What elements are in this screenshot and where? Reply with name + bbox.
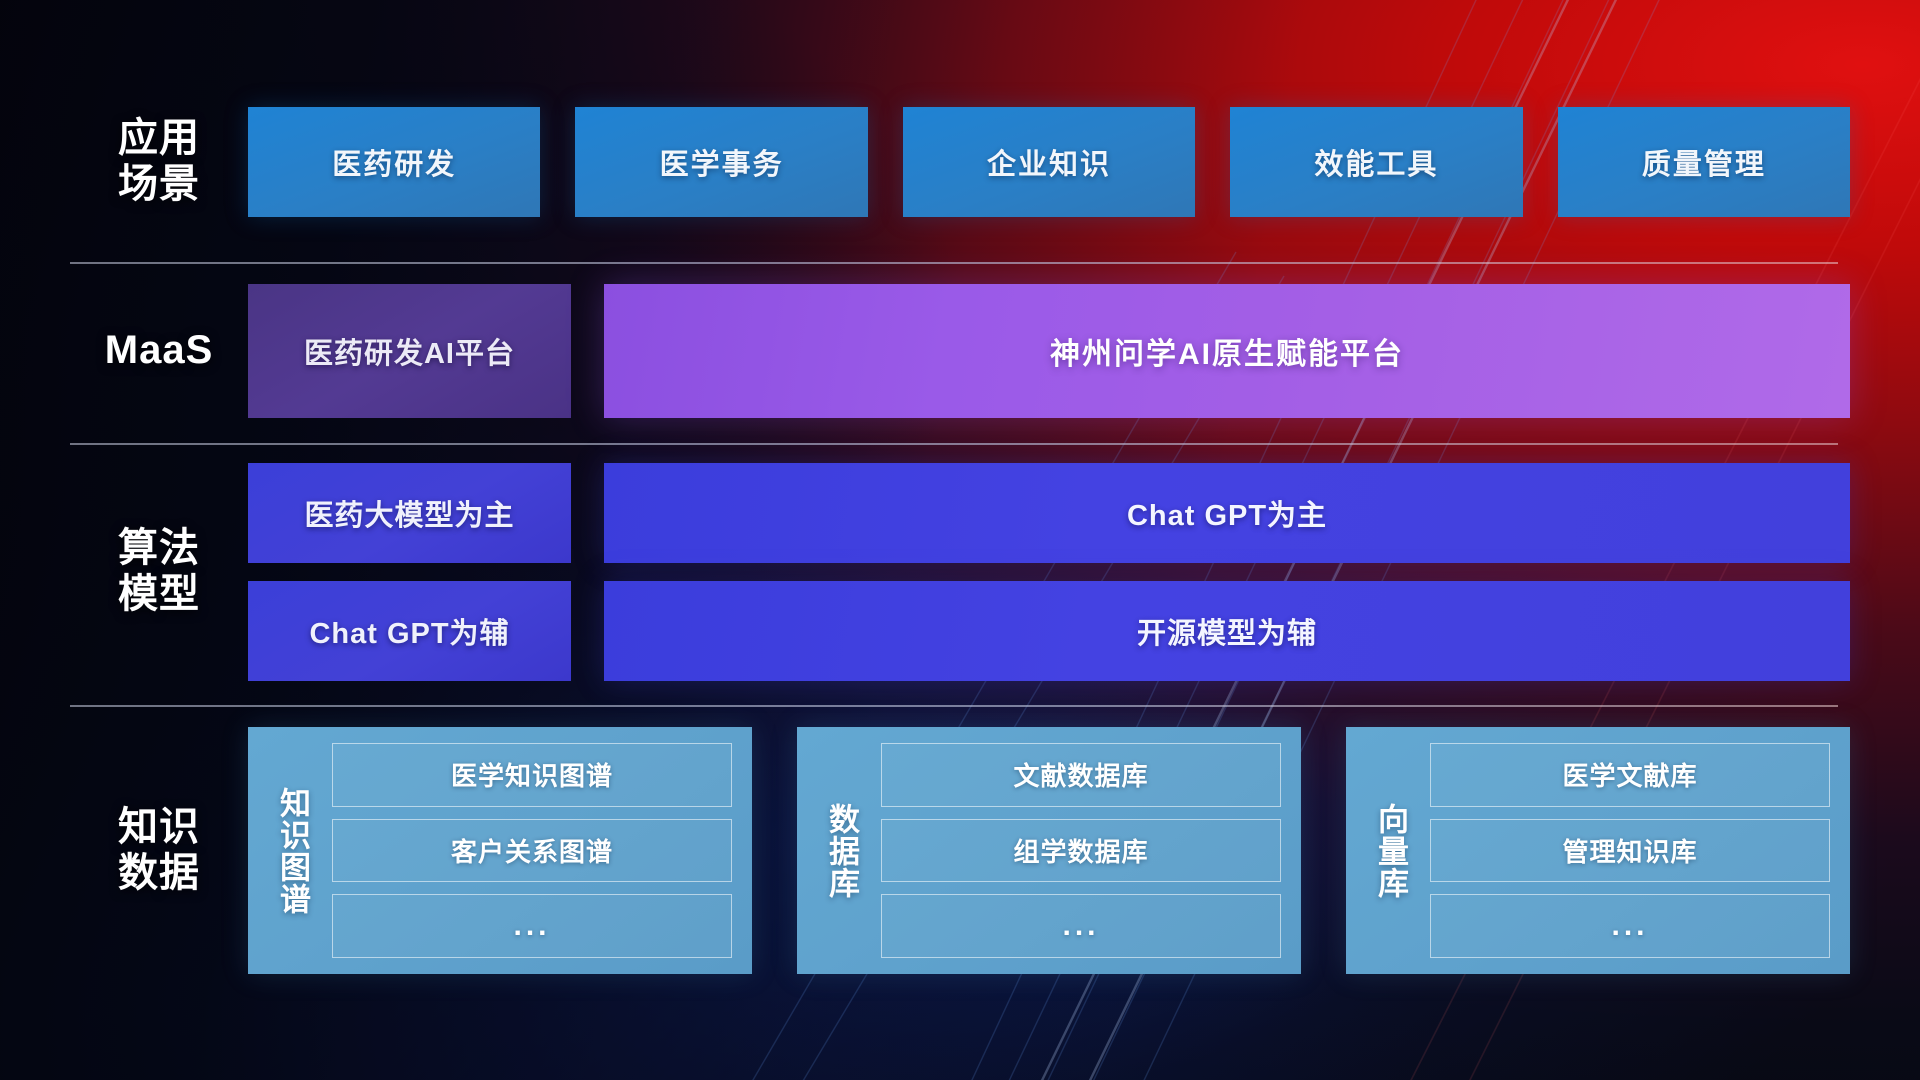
- knowledge-card-title-database: 数据库: [815, 743, 867, 958]
- algorithm-row-primary: 医药大模型为主 Chat GPT为主: [248, 463, 1850, 563]
- application-card-grid: 医药研发 医学事务 企业知识 效能工具 质量管理: [248, 107, 1850, 217]
- row-algorithms: 算法 模型 医药大模型为主 Chat GPT为主 Chat GPT为辅 开源模型…: [70, 463, 1850, 681]
- maas-card-shenzhou-wenxue-platform[interactable]: 神州问学AI原生赋能平台: [604, 284, 1850, 418]
- knowledge-item-customer-relation-graph[interactable]: 客户关系图谱: [332, 819, 732, 883]
- knowledge-content: 知识图谱 医学知识图谱 客户关系图谱 ... 数据库 文献数据库 组学数据库 .…: [248, 727, 1850, 974]
- knowledge-item-list-vector-store: 医学文献库 管理知识库 ...: [1430, 743, 1830, 958]
- knowledge-card-title-vector-store: 向量库: [1364, 743, 1416, 958]
- knowledge-item-list-knowledge-graph: 医学知识图谱 客户关系图谱 ...: [332, 743, 732, 958]
- knowledge-item-omics-database[interactable]: 组学数据库: [881, 819, 1281, 883]
- knowledge-item-more-knowledge-graph[interactable]: ...: [332, 894, 732, 958]
- knowledge-card-vector-store[interactable]: 向量库 医学文献库 管理知识库 ...: [1346, 727, 1850, 974]
- algorithms-content: 医药大模型为主 Chat GPT为主 Chat GPT为辅 开源模型为辅: [248, 463, 1850, 681]
- diagram-rows: 应用 场景 医药研发 医学事务 企业知识 效能工具 质量管理 MaaS 医药研发…: [0, 0, 1920, 1080]
- algorithm-row-secondary: Chat GPT为辅 开源模型为辅: [248, 581, 1850, 681]
- knowledge-item-management-knowledge-store[interactable]: 管理知识库: [1430, 819, 1830, 883]
- knowledge-item-more-database[interactable]: ...: [881, 894, 1281, 958]
- applications-content: 医药研发 医学事务 企业知识 效能工具 质量管理: [248, 107, 1850, 217]
- knowledge-item-list-database: 文献数据库 组学数据库 ...: [881, 743, 1281, 958]
- divider-maas-algorithms: [70, 443, 1838, 445]
- algo-card-chatgpt-primary[interactable]: Chat GPT为主: [604, 463, 1850, 563]
- app-card-drug-rd[interactable]: 医药研发: [248, 107, 540, 217]
- maas-card-grid: 医药研发AI平台 神州问学AI原生赋能平台: [248, 284, 1850, 418]
- knowledge-card-title-knowledge-graph: 知识图谱: [266, 743, 318, 958]
- app-card-efficiency-tools[interactable]: 效能工具: [1230, 107, 1522, 217]
- row-label-algorithms: 算法 模型: [70, 526, 248, 617]
- row-applications: 应用 场景 医药研发 医学事务 企业知识 效能工具 质量管理: [70, 98, 1850, 226]
- app-card-quality-management[interactable]: 质量管理: [1558, 107, 1850, 217]
- divider-algorithms-knowledge: [70, 705, 1838, 707]
- knowledge-card-grid: 知识图谱 医学知识图谱 客户关系图谱 ... 数据库 文献数据库 组学数据库 .…: [248, 727, 1850, 974]
- row-label-maas: MaaS: [70, 328, 248, 374]
- row-label-knowledge: 知识 数据: [70, 805, 248, 896]
- algo-card-chatgpt-secondary[interactable]: Chat GPT为辅: [248, 581, 571, 681]
- row-label-applications: 应用 场景: [70, 116, 248, 207]
- architecture-diagram: 应用 场景 医药研发 医学事务 企业知识 效能工具 质量管理 MaaS 医药研发…: [0, 0, 1920, 1080]
- knowledge-item-literature-database[interactable]: 文献数据库: [881, 743, 1281, 807]
- knowledge-card-knowledge-graph[interactable]: 知识图谱 医学知识图谱 客户关系图谱 ...: [248, 727, 752, 974]
- divider-applications-maas: [70, 262, 1838, 264]
- app-card-enterprise-knowledge[interactable]: 企业知识: [903, 107, 1195, 217]
- maas-card-drug-rd-ai-platform[interactable]: 医药研发AI平台: [248, 284, 571, 418]
- row-knowledge: 知识 数据 知识图谱 医学知识图谱 客户关系图谱 ... 数据库: [70, 727, 1850, 974]
- knowledge-item-more-vector-store[interactable]: ...: [1430, 894, 1830, 958]
- row-maas: MaaS 医药研发AI平台 神州问学AI原生赋能平台: [70, 284, 1850, 418]
- knowledge-card-database[interactable]: 数据库 文献数据库 组学数据库 ...: [797, 727, 1301, 974]
- knowledge-item-medical-knowledge-graph[interactable]: 医学知识图谱: [332, 743, 732, 807]
- algo-card-drug-llm-primary[interactable]: 医药大模型为主: [248, 463, 571, 563]
- algorithm-card-grid: 医药大模型为主 Chat GPT为主 Chat GPT为辅 开源模型为辅: [248, 463, 1850, 681]
- knowledge-item-medical-literature-store[interactable]: 医学文献库: [1430, 743, 1830, 807]
- app-card-medical-affairs[interactable]: 医学事务: [575, 107, 867, 217]
- maas-content: 医药研发AI平台 神州问学AI原生赋能平台: [248, 284, 1850, 418]
- algo-card-opensource-secondary[interactable]: 开源模型为辅: [604, 581, 1850, 681]
